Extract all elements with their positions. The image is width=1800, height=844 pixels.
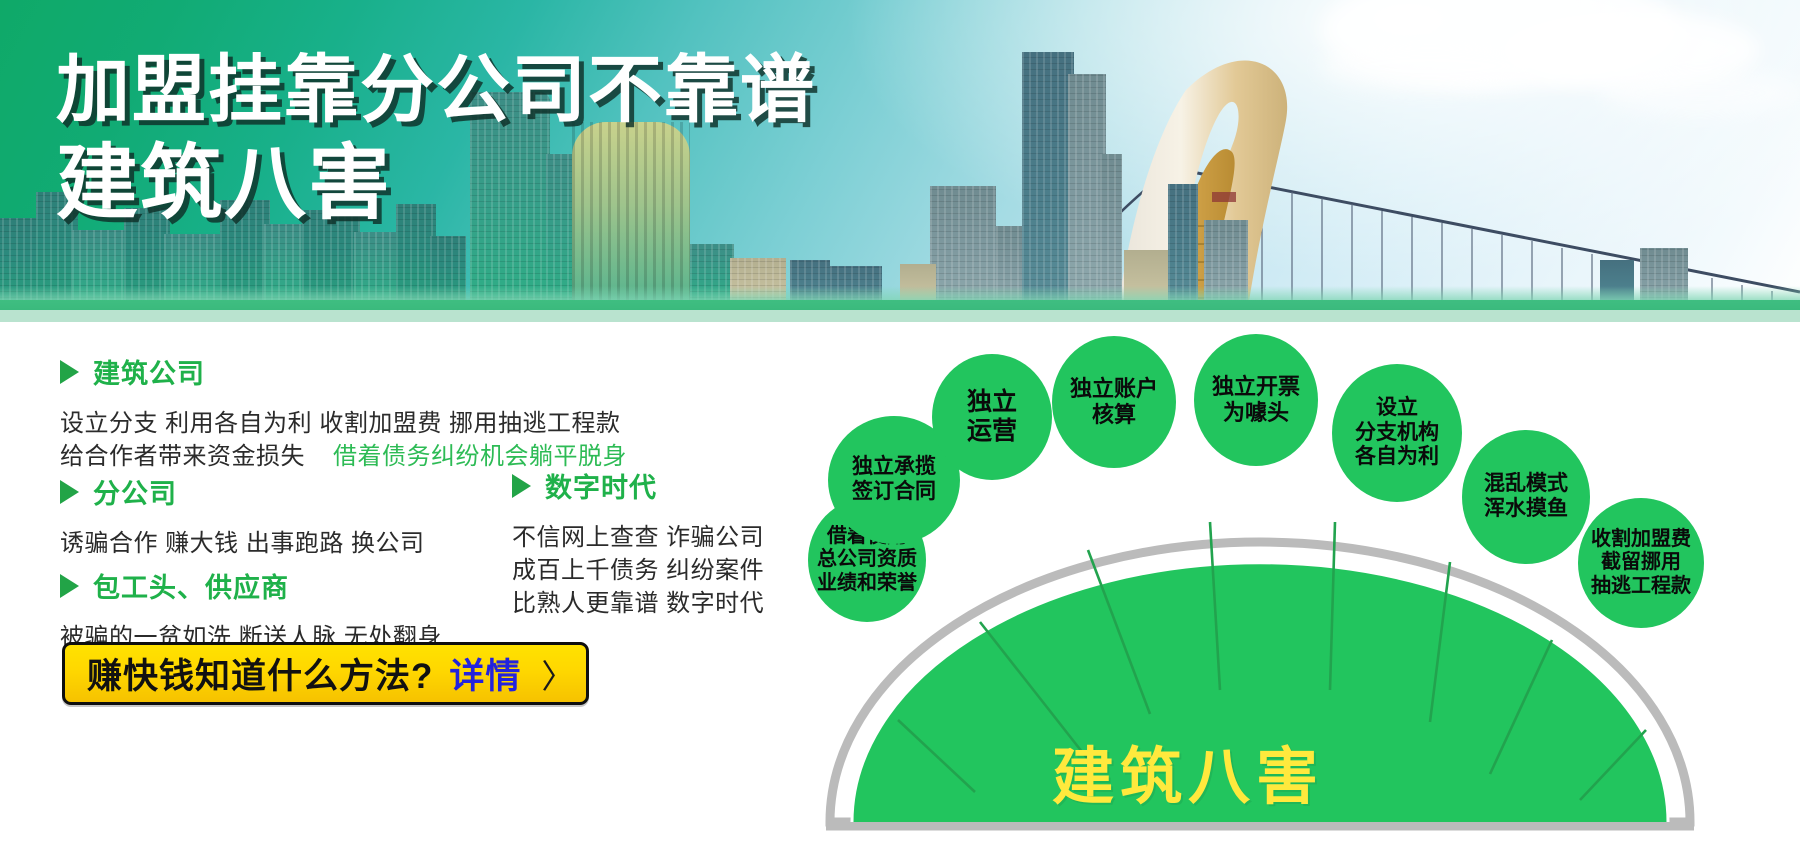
bubble-line: 核算 (1092, 402, 1136, 428)
bubble-line: 截留挪用 (1601, 551, 1681, 575)
body-text: 给合作者带来资金损失 (60, 443, 305, 470)
section-header: 分公司 (60, 472, 425, 511)
bubble-line: 业绩和荣誉 (817, 572, 917, 596)
chevron-right-icon: 〉 (541, 650, 574, 698)
ground-haze (0, 286, 1800, 300)
hero-title: 加盟挂靠分公司不靠谱 建筑八害 (56, 52, 816, 227)
body-line: 设立分支 利用各自为利 收割加盟费 挪用抽逃工程款 (60, 407, 627, 440)
section-body: 诱骗合作 赚大钱 出事跑路 换公司 (60, 527, 425, 560)
body-line: 比熟人更靠谱 数字时代 (512, 587, 764, 620)
section-contractor-supplier: 包工头、供应商 被骗的一贫如洗 断送人脉 无处翻身 (60, 566, 442, 654)
bubble-line: 抽逃工程款 (1591, 575, 1691, 599)
hero-title-line1: 加盟挂靠分公司不靠谱 (56, 52, 816, 128)
section-digital-era: 数字时代 不信网上查查 诈骗公司 成百上千债务 纠纷案件 比熟人更靠谱 数字时代 (512, 466, 764, 620)
bubble-harvest-fee[interactable]: 收割加盟费 截留挪用 抽逃工程款 (1578, 498, 1704, 628)
body-line: 不信网上查查 诈骗公司 (512, 521, 764, 554)
triangle-bullet-icon (512, 474, 531, 498)
bubble-line: 为噱头 (1223, 400, 1289, 426)
bubble-line: 分支机构 (1355, 421, 1439, 446)
bubble-set-up-branch[interactable]: 设立 分支机构 各自为利 (1332, 364, 1462, 502)
eight-harms-diagram: 借着使用 总公司资质 业绩和荣誉 独立承揽 签订合同 独立 运营 独立账户 核算… (790, 322, 1800, 844)
poster-page: 加盟挂靠分公司不靠谱 建筑八害 建筑公司 设立分支 利用各自为利 收割加盟费 挪… (0, 0, 1800, 844)
cta-link-label[interactable]: 详情 (449, 648, 521, 699)
section-title: 包工头、供应商 (93, 566, 289, 605)
section-title: 建筑公司 (93, 352, 205, 391)
bubble-line: 浑水摸鱼 (1484, 497, 1568, 522)
body-line: 诱骗合作 赚大钱 出事跑路 换公司 (60, 527, 425, 560)
bubble-line: 独立账户 (1070, 376, 1158, 402)
section-body: 设立分支 利用各自为利 收割加盟费 挪用抽逃工程款 给合作者带来资金损失借着债务… (60, 407, 627, 473)
section-title: 数字时代 (545, 466, 657, 505)
hero-banner: 加盟挂靠分公司不靠谱 建筑八害 (0, 0, 1800, 322)
triangle-bullet-icon (60, 574, 79, 598)
section-header: 建筑公司 (60, 352, 627, 391)
cta-button[interactable]: 赚快钱知道什么方法? 详情 〉 (62, 642, 589, 705)
bubble-line: 独立开票 (1212, 374, 1300, 400)
hero-title-line2: 建筑八害 (56, 142, 816, 226)
bubble-independent-invoice[interactable]: 独立开票 为噱头 (1194, 334, 1318, 466)
bubble-line: 设立 (1376, 396, 1418, 421)
section-title: 分公司 (93, 472, 177, 511)
triangle-bullet-icon (60, 480, 79, 504)
cta-main-label: 赚快钱知道什么方法? (87, 648, 433, 699)
section-header: 包工头、供应商 (60, 566, 442, 605)
bubble-line: 混乱模式 (1484, 472, 1568, 497)
bubble-line: 运营 (967, 417, 1017, 447)
dome-label: 建筑八害 (1052, 726, 1324, 816)
bubble-line: 收割加盟费 (1591, 528, 1691, 552)
section-header: 数字时代 (512, 466, 764, 505)
bubble-line: 签订合同 (852, 480, 936, 505)
left-content: 建筑公司 设立分支 利用各自为利 收割加盟费 挪用抽逃工程款 给合作者带来资金损… (0, 322, 790, 844)
hero-bottom-band (0, 310, 1800, 322)
bubble-line: 各自为利 (1355, 445, 1439, 470)
section-construction-company: 建筑公司 设立分支 利用各自为利 收割加盟费 挪用抽逃工程款 给合作者带来资金损… (60, 352, 627, 473)
bubble-line: 总公司资质 (817, 548, 917, 572)
bubble-line: 独立承揽 (852, 455, 936, 480)
bubble-chaotic-mode[interactable]: 混乱模式 浑水摸鱼 (1462, 430, 1590, 564)
bubble-line: 独立 (967, 388, 1017, 418)
bubble-independent-operation[interactable]: 独立 运营 (932, 354, 1052, 480)
section-body: 不信网上查查 诈骗公司 成百上千债务 纠纷案件 比熟人更靠谱 数字时代 (512, 521, 764, 620)
section-branch-company: 分公司 诱骗合作 赚大钱 出事跑路 换公司 (60, 472, 425, 560)
bubble-independent-account[interactable]: 独立账户 核算 (1052, 336, 1176, 468)
triangle-bullet-icon (60, 360, 79, 384)
body-line: 成百上千债务 纠纷案件 (512, 554, 764, 587)
